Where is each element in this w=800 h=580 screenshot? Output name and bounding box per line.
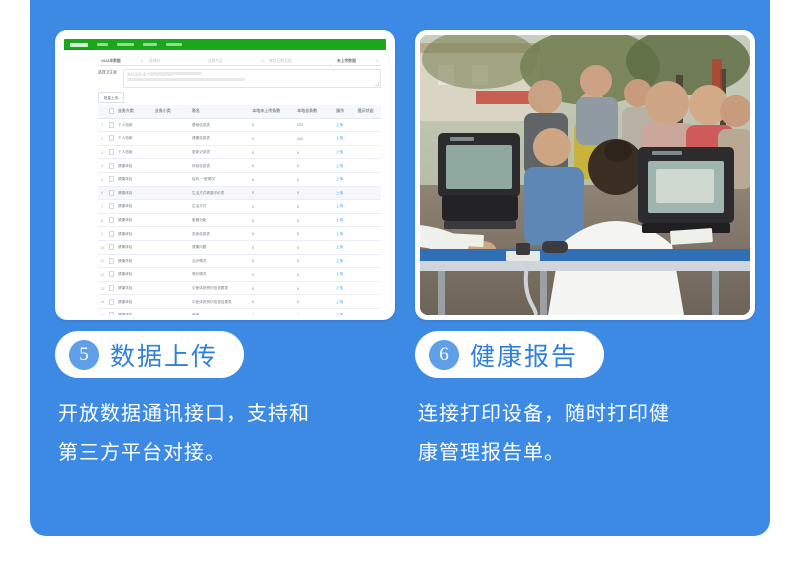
cell-index-text: 9: [101, 231, 103, 236]
cell-total-count-text: 0: [297, 259, 299, 264]
checkbox-icon[interactable]: [109, 299, 114, 305]
cell-table-name: 健康问题: [190, 244, 250, 250]
cell-business-minor: [153, 122, 190, 127]
section-5-desc-line-2: 第三方平台对接。: [58, 433, 394, 472]
cell-pending-count-text: 0: [252, 204, 254, 209]
th-status: 提示状态: [356, 108, 381, 114]
checkbox-icon[interactable]: [109, 176, 114, 182]
cell-business-minor: [153, 136, 190, 141]
cell-total-count-text: 0: [297, 191, 299, 196]
cell-upload-link[interactable]: 上传: [334, 258, 356, 264]
cell-business-major-text: 个人档案: [118, 136, 132, 141]
filter-village-placeholder: 选择村: [149, 58, 160, 64]
cell-status: [356, 299, 381, 304]
cell-index: 3: [98, 150, 107, 155]
cell-pending-count-text: 0: [252, 272, 254, 277]
cell-pending-count-text: 0: [252, 286, 254, 291]
cell-total-count: 103: [295, 122, 334, 127]
cell-business-major-text: 健康体检: [118, 245, 132, 250]
cell-status: [356, 258, 381, 263]
cell-table-name-text: 体检信息表: [192, 163, 210, 168]
cell-table-name: 查体信息表: [190, 231, 250, 237]
cell-index-text: 2: [101, 136, 103, 141]
cell-business-major: 健康体检: [116, 203, 153, 209]
upload-table: 业务大类 业务小类 表名 本地未上传条数 本地总条数 操作 提示状态 1个人档案…: [98, 105, 381, 313]
checkbox-icon[interactable]: [109, 122, 114, 128]
cell-table-name-text: 其他: [192, 313, 199, 315]
cell-business-major-text: 健康体检: [118, 231, 132, 236]
filter-upload-status-select[interactable]: 未上传数据 ▾: [334, 57, 382, 66]
cell-pending-count: 0: [250, 136, 295, 141]
cell-index-text: 15: [100, 313, 104, 315]
cell-business-major: 健康体检: [116, 190, 153, 196]
cell-business-minor: [153, 163, 190, 168]
cell-index-text: 14: [100, 299, 104, 304]
cell-pending-count: 0: [250, 163, 295, 168]
row-checkbox[interactable]: [107, 271, 116, 277]
cell-table-name: 其他: [190, 312, 250, 315]
cell-status: [356, 286, 381, 291]
table-row[interactable]: 3个人档案更新记录表00上传: [98, 146, 381, 160]
cell-total-count-text: 103: [297, 136, 303, 141]
filter-date-range-input[interactable]: 体检日期范围: [266, 57, 333, 66]
th-business-major: 业务大类: [116, 108, 153, 114]
cell-total-count-text: 0: [297, 218, 299, 223]
cell-business-minor: [153, 150, 190, 155]
checkbox-icon[interactable]: [109, 285, 114, 291]
cell-status: [356, 122, 381, 127]
cell-total-count: 0: [295, 231, 334, 236]
cell-business-major-text: 健康体检: [118, 272, 132, 277]
table-row[interactable]: 14健康体检中医体质辨识检查结果表00上传: [98, 295, 381, 309]
cell-status: [356, 313, 381, 315]
idcard-textarea[interactable]: 身份证号(多个证号分隔) 如：: [123, 69, 381, 88]
checkbox-icon[interactable]: [109, 244, 114, 250]
cell-business-minor: [153, 313, 190, 315]
nav-active-underline: [64, 49, 94, 50]
cell-business-major-text: 个人档案: [118, 149, 132, 154]
cell-upload-link-text: 上传: [336, 136, 343, 141]
cell-total-count-text: 0: [297, 245, 299, 250]
cell-index: 1: [98, 122, 107, 127]
cell-total-count: 0: [295, 177, 334, 182]
cell-total-count-text: 0: [297, 286, 299, 291]
resize-handle-icon[interactable]: [375, 82, 379, 86]
cell-pending-count: 0: [250, 218, 295, 223]
cell-table-name: 基础信息表: [190, 122, 250, 128]
cell-upload-link[interactable]: 上传: [334, 217, 356, 223]
section-6-title: 健康报告: [470, 337, 578, 373]
app-top-nav[interactable]: [64, 39, 386, 50]
cell-total-count-text: 0: [297, 272, 299, 277]
cell-total-count: 0: [295, 313, 334, 315]
cell-pending-count-text: 0: [252, 218, 254, 223]
cell-business-major: 健康体检: [116, 271, 153, 277]
table-row[interactable]: 9健康体检查体信息表00上传: [98, 227, 381, 241]
cell-table-name: 症状-一般情况: [190, 176, 250, 182]
cell-business-major-text: 健康体检: [118, 163, 132, 168]
filter-bar: 2024年数据 ▾ 选择村 选择片区 ▾: [98, 55, 381, 67]
cell-table-name-text: 简约情况: [192, 272, 206, 277]
cell-upload-link-text: 上传: [336, 163, 343, 168]
cell-pending-count: 0: [250, 122, 295, 127]
filter-village-select[interactable]: 选择村: [146, 57, 205, 66]
cell-upload-link[interactable]: 上传: [334, 285, 356, 291]
cell-index-text: 8: [101, 218, 103, 223]
cell-upload-link[interactable]: 上传: [334, 299, 356, 305]
cell-pending-count: 0: [250, 245, 295, 250]
row-checkbox[interactable]: [107, 122, 116, 128]
cell-pending-count-text: 0: [252, 245, 254, 250]
cell-upload-link[interactable]: 上传: [334, 135, 356, 141]
checkbox-icon[interactable]: [109, 203, 114, 209]
app-logo: [70, 43, 88, 47]
th-select-all[interactable]: [107, 108, 116, 114]
section-5-pill: 5 数据上传: [55, 331, 244, 378]
checkbox-icon[interactable]: [109, 190, 114, 196]
checkbox-icon[interactable]: [109, 108, 114, 114]
cell-index: 11: [98, 258, 107, 263]
table-row[interactable]: 4健康体检体检信息表00上传: [98, 159, 381, 173]
row-checkbox[interactable]: [107, 149, 116, 155]
table-row[interactable]: 12健康体检简约情况00上传: [98, 268, 381, 282]
cell-index: 5: [98, 177, 107, 182]
cell-index-text: 10: [100, 245, 104, 250]
nav-item-1[interactable]: [117, 43, 134, 46]
table-header-row: 业务大类 业务小类 表名 本地未上传条数 本地总条数 操作 提示状态: [98, 105, 381, 119]
cell-table-name-text: 中医体质辨识检查题表: [192, 285, 228, 290]
cell-table-name-text: 更新记录表: [192, 149, 210, 154]
cell-pending-count: 0: [250, 190, 295, 195]
cell-upload-link-text: 上传: [336, 204, 343, 209]
cell-table-name: 中医体质辨识检查结果表: [190, 299, 250, 305]
filter-area-select[interactable]: 选择片区 ▾: [205, 57, 266, 66]
table-row[interactable]: 8健康体检脏器功能00上传: [98, 214, 381, 228]
th-business-minor: 业务小类: [153, 108, 190, 114]
cell-pending-count: 0: [250, 313, 295, 315]
chevron-down-icon: ▾: [262, 59, 264, 63]
cell-status: [356, 136, 381, 141]
cell-upload-link-text: 上传: [336, 299, 343, 304]
row-checkbox[interactable]: [107, 176, 116, 182]
batch-upload-button[interactable]: 批量上传: [98, 92, 124, 103]
cell-pending-count-text: 0: [252, 231, 254, 236]
cell-total-count: 0: [295, 272, 334, 277]
section-5-column: 2024年数据 ▾ 选择村 选择片区 ▾: [55, 0, 395, 536]
table-row[interactable]: 1个人档案基础信息表0103上传: [98, 119, 381, 133]
section-6-column: 6 健康报告 连接打印设备，随时打印健 康管理报告单。: [415, 0, 755, 536]
cell-business-major-text: 个人档案: [118, 122, 132, 127]
cell-pending-count: 0: [250, 150, 295, 155]
health-screening-photo: [420, 35, 750, 315]
cell-upload-link[interactable]: 上传: [334, 312, 356, 315]
cell-total-count: 0: [295, 258, 334, 263]
cell-upload-link[interactable]: 上传: [334, 149, 356, 155]
cell-index-text: 3: [101, 150, 103, 155]
cell-business-minor: [153, 177, 190, 182]
cell-index-text: 13: [100, 286, 104, 291]
nav-item-2[interactable]: [143, 43, 157, 46]
cell-table-name-text: 治疗情况: [192, 258, 206, 263]
checkbox-icon[interactable]: [109, 149, 114, 155]
cell-table-name: 中医体质辨识检查题表: [190, 285, 250, 291]
cell-business-major: 个人档案: [116, 149, 153, 155]
cell-pending-count: 0: [250, 286, 295, 291]
cell-status: [356, 245, 381, 250]
section-5-title: 数据上传: [110, 337, 218, 373]
photo-inner: [420, 35, 750, 315]
cell-table-name: 简约情况: [190, 271, 250, 277]
cell-pending-count-text: 0: [252, 136, 254, 141]
cell-table-name: 更新记录表: [190, 149, 250, 155]
cell-business-major: 健康体检: [116, 285, 153, 291]
cell-upload-link[interactable]: 上传: [334, 231, 356, 237]
cell-index: 9: [98, 231, 107, 236]
cell-upload-link-text: 上传: [336, 217, 343, 222]
table-row[interactable]: 5健康体检症状-一般情况00上传: [98, 173, 381, 187]
cell-table-name-text: 生活方式: [192, 204, 206, 209]
cell-table-name-text: 症状-一般情况: [192, 177, 215, 182]
filter-area-placeholder: 选择片区: [208, 58, 223, 64]
section-6-pill: 6 健康报告: [415, 331, 604, 378]
cell-upload-link-text: 上传: [336, 149, 343, 154]
chevron-down-icon: ▾: [376, 59, 378, 63]
cell-index: 4: [98, 163, 107, 168]
cell-business-minor: [153, 258, 190, 263]
cell-index-text: 11: [101, 259, 105, 264]
cell-pending-count-text: 0: [252, 259, 254, 264]
row-checkbox[interactable]: [107, 203, 116, 209]
cell-status: [356, 272, 381, 277]
cell-business-major: 健康体检: [116, 231, 153, 237]
cell-index-text: 12: [100, 272, 104, 277]
cell-upload-link[interactable]: 上传: [334, 203, 356, 209]
table-row[interactable]: 13健康体检中医体质辨识检查题表00上传: [98, 282, 381, 296]
nav-item-3[interactable]: [166, 43, 182, 46]
photo-frame: [415, 30, 755, 320]
cell-total-count: 0: [295, 204, 334, 209]
filter-year-select[interactable]: 2024年数据 ▾: [98, 57, 146, 66]
checkbox-icon[interactable]: [109, 271, 114, 277]
cell-index: 2: [98, 136, 107, 141]
table-row[interactable]: 15健康体检其他00上传: [98, 309, 381, 315]
app-screenshot-frame: 2024年数据 ▾ 选择村 选择片区 ▾: [55, 30, 395, 320]
textarea-filler-1: [150, 72, 202, 75]
cell-business-minor: [153, 286, 190, 291]
cell-total-count: 0: [295, 190, 334, 195]
row-checkbox[interactable]: [107, 217, 116, 223]
cell-pending-count: 0: [250, 258, 295, 263]
filter-year-value: 2024年数据: [101, 58, 121, 64]
section-6-number-badge: 6: [429, 340, 459, 370]
section-5-desc-line-1: 开放数据通讯接口，支持和: [58, 394, 394, 433]
cell-table-name: 脏器功能: [190, 217, 250, 223]
cell-total-count: 0: [295, 245, 334, 250]
cell-index: 14: [98, 299, 107, 304]
cell-index: 12: [98, 272, 107, 277]
cell-upload-link-text: 上传: [336, 245, 343, 250]
cell-total-count: 103: [295, 136, 334, 141]
cell-total-count-text: 103: [297, 123, 303, 128]
row-checkbox[interactable]: [107, 299, 116, 305]
cell-table-name: 生活方式健康评价表: [190, 190, 250, 196]
cell-business-major: 健康体检: [116, 163, 153, 169]
cell-table-name: 生活方式: [190, 203, 250, 209]
checkbox-icon[interactable]: [109, 231, 114, 237]
cell-business-major-text: 健康体检: [118, 258, 132, 263]
cell-business-major-text: 健康体检: [118, 204, 132, 209]
nav-item-0[interactable]: [97, 43, 108, 46]
section-5-number-badge: 5: [69, 340, 99, 370]
cell-total-count: 0: [295, 163, 334, 168]
cell-total-count-text: 0: [297, 313, 299, 315]
cell-table-name-text: 基础信息表: [192, 122, 210, 127]
page-root: 2024年数据 ▾ 选择村 选择片区 ▾: [0, 0, 800, 580]
table-row[interactable]: 6健康体检生活方式健康评价表00上传: [98, 187, 381, 201]
cell-index: 15: [98, 313, 107, 315]
table-row[interactable]: 11健康体检治疗情况00上传: [98, 255, 381, 269]
cell-pending-count-text: 0: [252, 299, 254, 304]
clinic-select-label: 选择卫生室: [98, 69, 117, 75]
section-6-desc-line-2: 康管理报告单。: [418, 433, 754, 472]
checkbox-icon[interactable]: [109, 217, 114, 223]
cell-index: 13: [98, 286, 107, 291]
cell-total-count-text: 0: [297, 177, 299, 182]
checkbox-icon[interactable]: [109, 163, 114, 169]
cell-table-name: 体检信息表: [190, 163, 250, 169]
th-pending-count: 本地未上传条数: [250, 108, 295, 114]
cell-index: 6: [98, 190, 107, 195]
cell-business-minor: [153, 190, 190, 195]
cell-business-minor: [153, 299, 190, 304]
blue-feature-card: 2024年数据 ▾ 选择村 选择片区 ▾: [30, 0, 770, 536]
cell-business-major: 健康体检: [116, 299, 153, 305]
cell-pending-count-text: 0: [252, 123, 254, 128]
cell-total-count: 0: [295, 150, 334, 155]
cell-index: 10: [98, 245, 107, 250]
cell-total-count-text: 0: [297, 163, 299, 168]
batch-upload-label: 批量上传: [104, 95, 118, 100]
cell-status: [356, 150, 381, 155]
cell-business-minor: [153, 204, 190, 209]
textarea-filler-2: [127, 78, 245, 81]
cell-business-major: 健康体检: [116, 217, 153, 223]
cell-pending-count-text: 0: [252, 163, 254, 168]
cell-index: 8: [98, 218, 107, 223]
cell-pending-count-text: 0: [252, 313, 254, 315]
cell-table-name-text: 生活方式健康评价表: [192, 190, 224, 195]
cell-table-name-text: 脏器功能: [192, 217, 206, 222]
cell-business-major-text: 健康体检: [118, 313, 132, 315]
cell-table-name-text: 查体信息表: [192, 231, 210, 236]
cell-business-minor: [153, 272, 190, 277]
cell-status: [356, 177, 381, 182]
row-checkbox[interactable]: [107, 190, 116, 196]
clinic-idcard-row: 选择卫生室 身份证号(多个证号分隔) 如：: [98, 69, 381, 88]
table-row[interactable]: 10健康体检健康问题00上传: [98, 241, 381, 255]
table-row[interactable]: 7健康体检生活方式00上传: [98, 200, 381, 214]
cell-upload-link-text: 上传: [336, 258, 343, 263]
cell-total-count-text: 0: [297, 231, 299, 236]
cell-upload-link-text: 上传: [336, 272, 343, 277]
cell-business-major-text: 健康体检: [118, 190, 132, 195]
cell-business-major: 健康体检: [116, 258, 153, 264]
row-checkbox[interactable]: [107, 244, 116, 250]
cell-total-count: 0: [295, 286, 334, 291]
cell-business-major-text: 健康体检: [118, 177, 132, 182]
data-upload-app: 2024年数据 ▾ 选择村 选择片区 ▾: [60, 35, 390, 315]
cell-upload-link-text: 上传: [336, 122, 343, 127]
cell-index-text: 4: [101, 163, 103, 168]
cell-business-major: 健康体检: [116, 244, 153, 250]
cell-index-text: 5: [101, 177, 103, 182]
cell-pending-count: 0: [250, 204, 295, 209]
cell-status: [356, 204, 381, 209]
cell-upload-link[interactable]: 上传: [334, 176, 356, 182]
row-checkbox[interactable]: [107, 163, 116, 169]
cell-upload-link[interactable]: 上传: [334, 163, 356, 169]
cell-status: [356, 163, 381, 168]
cell-upload-link[interactable]: 上传: [334, 122, 356, 128]
cell-business-minor: [153, 245, 190, 250]
cell-pending-count-text: 0: [252, 150, 254, 155]
filter-upload-status-value: 未上传数据: [337, 58, 356, 64]
cell-upload-link-text: 上传: [336, 313, 343, 315]
cell-table-name: 治疗情况: [190, 258, 250, 264]
section-6-description: 连接打印设备，随时打印健 康管理报告单。: [418, 394, 754, 472]
cell-business-major-text: 健康体检: [118, 299, 132, 304]
row-checkbox[interactable]: [107, 258, 116, 264]
cell-pending-count: 0: [250, 272, 295, 277]
row-checkbox[interactable]: [107, 135, 116, 141]
table-row[interactable]: 2个人档案健康信息表0103上传: [98, 132, 381, 146]
table-body: 1个人档案基础信息表0103上传2个人档案健康信息表0103上传3个人档案更新记…: [98, 119, 381, 315]
cell-table-name-text: 中医体质辨识检查结果表: [192, 299, 232, 304]
row-checkbox[interactable]: [107, 231, 116, 237]
cell-upload-link[interactable]: 上传: [334, 271, 356, 277]
th-total-count: 本地总条数: [295, 108, 334, 114]
cell-business-major: 个人档案: [116, 135, 153, 141]
cell-pending-count-text: 0: [252, 177, 254, 182]
cell-index-text: 1: [101, 123, 103, 128]
cell-upload-link-text: 上传: [336, 190, 343, 195]
section-5-description: 开放数据通讯接口，支持和 第三方平台对接。: [58, 394, 394, 472]
cell-total-count-text: 0: [297, 204, 299, 209]
row-checkbox[interactable]: [107, 312, 116, 315]
checkbox-icon[interactable]: [109, 135, 114, 141]
cell-business-major: 个人档案: [116, 122, 153, 128]
cell-total-count: 0: [295, 218, 334, 223]
cell-index-text: 7: [101, 204, 103, 209]
cell-status: [356, 190, 381, 195]
app-screenshot-inner: 2024年数据 ▾ 选择村 选择片区 ▾: [60, 35, 390, 315]
cell-upload-link-text: 上传: [336, 177, 343, 182]
cell-upload-link-text: 上传: [336, 231, 343, 236]
cell-business-minor: [153, 218, 190, 223]
cell-pending-count: 0: [250, 299, 295, 304]
cell-upload-link[interactable]: 上传: [334, 190, 356, 196]
cell-upload-link[interactable]: 上传: [334, 244, 356, 250]
cell-table-name-text: 健康问题: [192, 245, 206, 250]
cell-status: [356, 218, 381, 223]
checkbox-icon[interactable]: [109, 312, 114, 315]
row-checkbox[interactable]: [107, 285, 116, 291]
cell-pending-count: 0: [250, 177, 295, 182]
cell-table-name: 健康信息表: [190, 135, 250, 141]
cell-pending-count-text: 0: [252, 191, 254, 196]
checkbox-icon[interactable]: [109, 258, 114, 264]
chevron-down-icon: ▾: [141, 59, 143, 63]
